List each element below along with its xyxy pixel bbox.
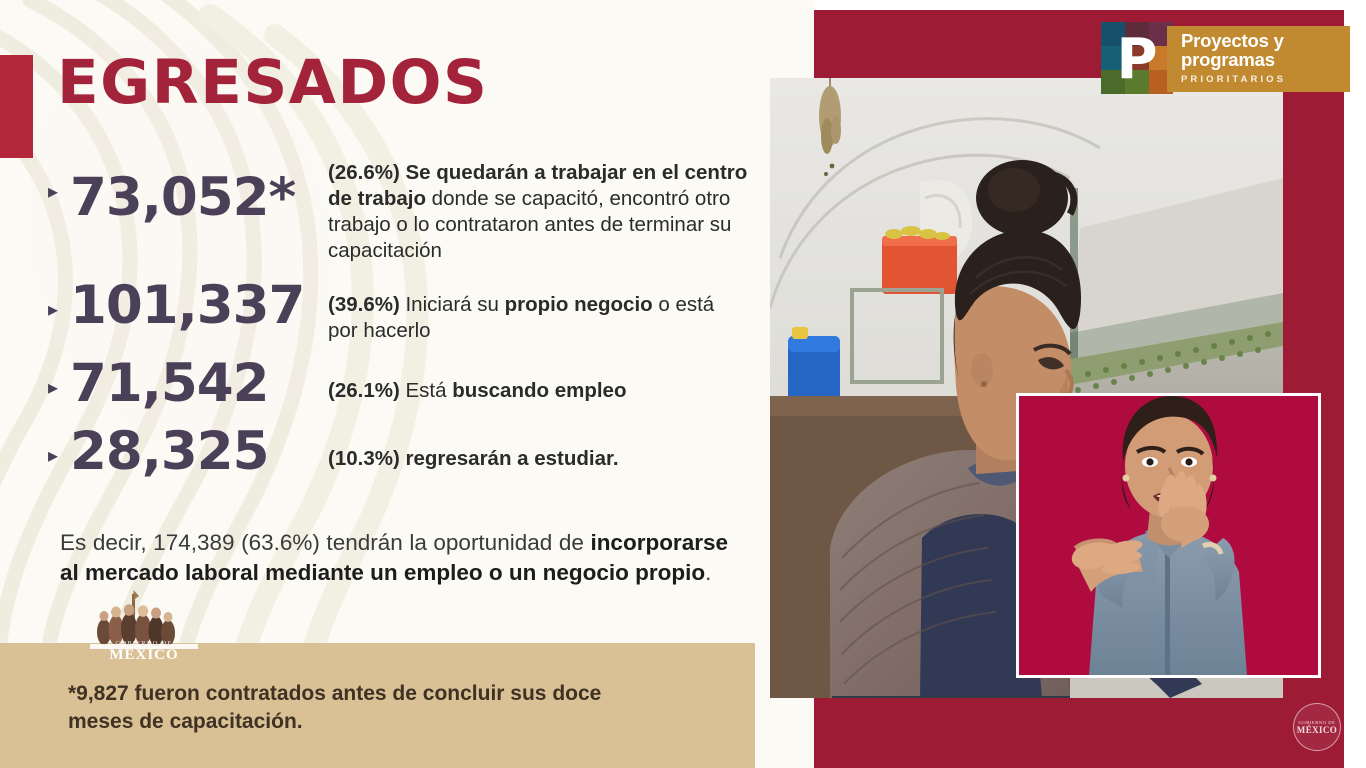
badge-line-2: programas: [1181, 51, 1350, 70]
bullet-triangle-icon: ▸: [48, 278, 70, 320]
stat-description: (26.6%) Se quedarán a trabajar en el cen…: [328, 160, 748, 264]
stat-percent: (39.6%): [328, 293, 400, 316]
p-logo-icon: P: [1101, 22, 1173, 94]
footnote-text: *9,827 fueron contratados antes de concl…: [68, 680, 668, 737]
stat-percent: (26.1%): [328, 379, 400, 402]
stat-number: 71,542: [70, 356, 328, 412]
broadcast-right-edge: [1344, 0, 1366, 768]
presentation-slide: EGRESADOS ▸ 73,052* (26.6%) Se quedarán …: [0, 0, 814, 768]
stat-number: 73,052*: [70, 160, 328, 226]
gobierno-logo-line1: GOBIERNO DE: [90, 640, 198, 647]
stat-description-text: Está buscando empleo: [405, 379, 626, 402]
badge-line-3: PRIORITARIOS: [1181, 74, 1350, 85]
list-item: ▸ 73,052* (26.6%) Se quedarán a trabajar…: [48, 160, 748, 264]
corner-watermark-line2: MÉXICO: [1297, 725, 1337, 735]
proyectos-y-programas-badge: P Proyectos y programas PRIORITARIOS: [1101, 22, 1350, 94]
summary-paragraph: Es decir, 174,389 (63.6%) tendrán la opo…: [60, 528, 728, 587]
stat-number: 28,325: [70, 424, 328, 480]
stat-percent: (26.6%): [328, 161, 400, 184]
corner-gobierno-watermark: GOBIERNO DE MÉXICO: [1293, 703, 1341, 751]
stat-description: (26.1%) Está buscando empleo: [328, 356, 748, 404]
badge-banner: Proyectos y programas PRIORITARIOS: [1167, 26, 1350, 92]
stat-description: (10.3%) regresarán a estudiar.: [328, 424, 748, 472]
stat-percent: (10.3%): [328, 447, 400, 470]
bullet-triangle-icon: ▸: [48, 160, 70, 202]
svg-text:P: P: [1116, 27, 1157, 92]
stat-description: (39.6%) Iniciará su propio negocio o est…: [328, 278, 748, 344]
stat-number: 101,337: [70, 278, 328, 334]
sign-language-interpreter-inset: [1016, 393, 1321, 678]
list-item: ▸ 71,542 (26.1%) Está buscando empleo: [48, 356, 748, 412]
title-accent-bar: [0, 55, 33, 158]
statistics-list: ▸ 73,052* (26.6%) Se quedarán a trabajar…: [48, 160, 748, 485]
stat-description-text: regresarán a estudiar.: [405, 447, 618, 470]
gobierno-logo-text: GOBIERNO DE MÉXICO: [90, 640, 198, 664]
page-title: EGRESADOS: [57, 52, 488, 113]
list-item: ▸ 28,325 (10.3%) regresarán a estudiar.: [48, 424, 748, 480]
gobierno-logo-line2: MÉXICO: [90, 647, 198, 664]
gobierno-de-mexico-logo: GOBIERNO DE MÉXICO: [90, 588, 198, 666]
list-item: ▸ 101,337 (39.6%) Iniciará su propio neg…: [48, 278, 748, 344]
bullet-triangle-icon: ▸: [48, 424, 70, 466]
bullet-triangle-icon: ▸: [48, 356, 70, 398]
slide-screenshot: EGRESADOS ▸ 73,052* (26.6%) Se quedarán …: [0, 0, 1366, 768]
